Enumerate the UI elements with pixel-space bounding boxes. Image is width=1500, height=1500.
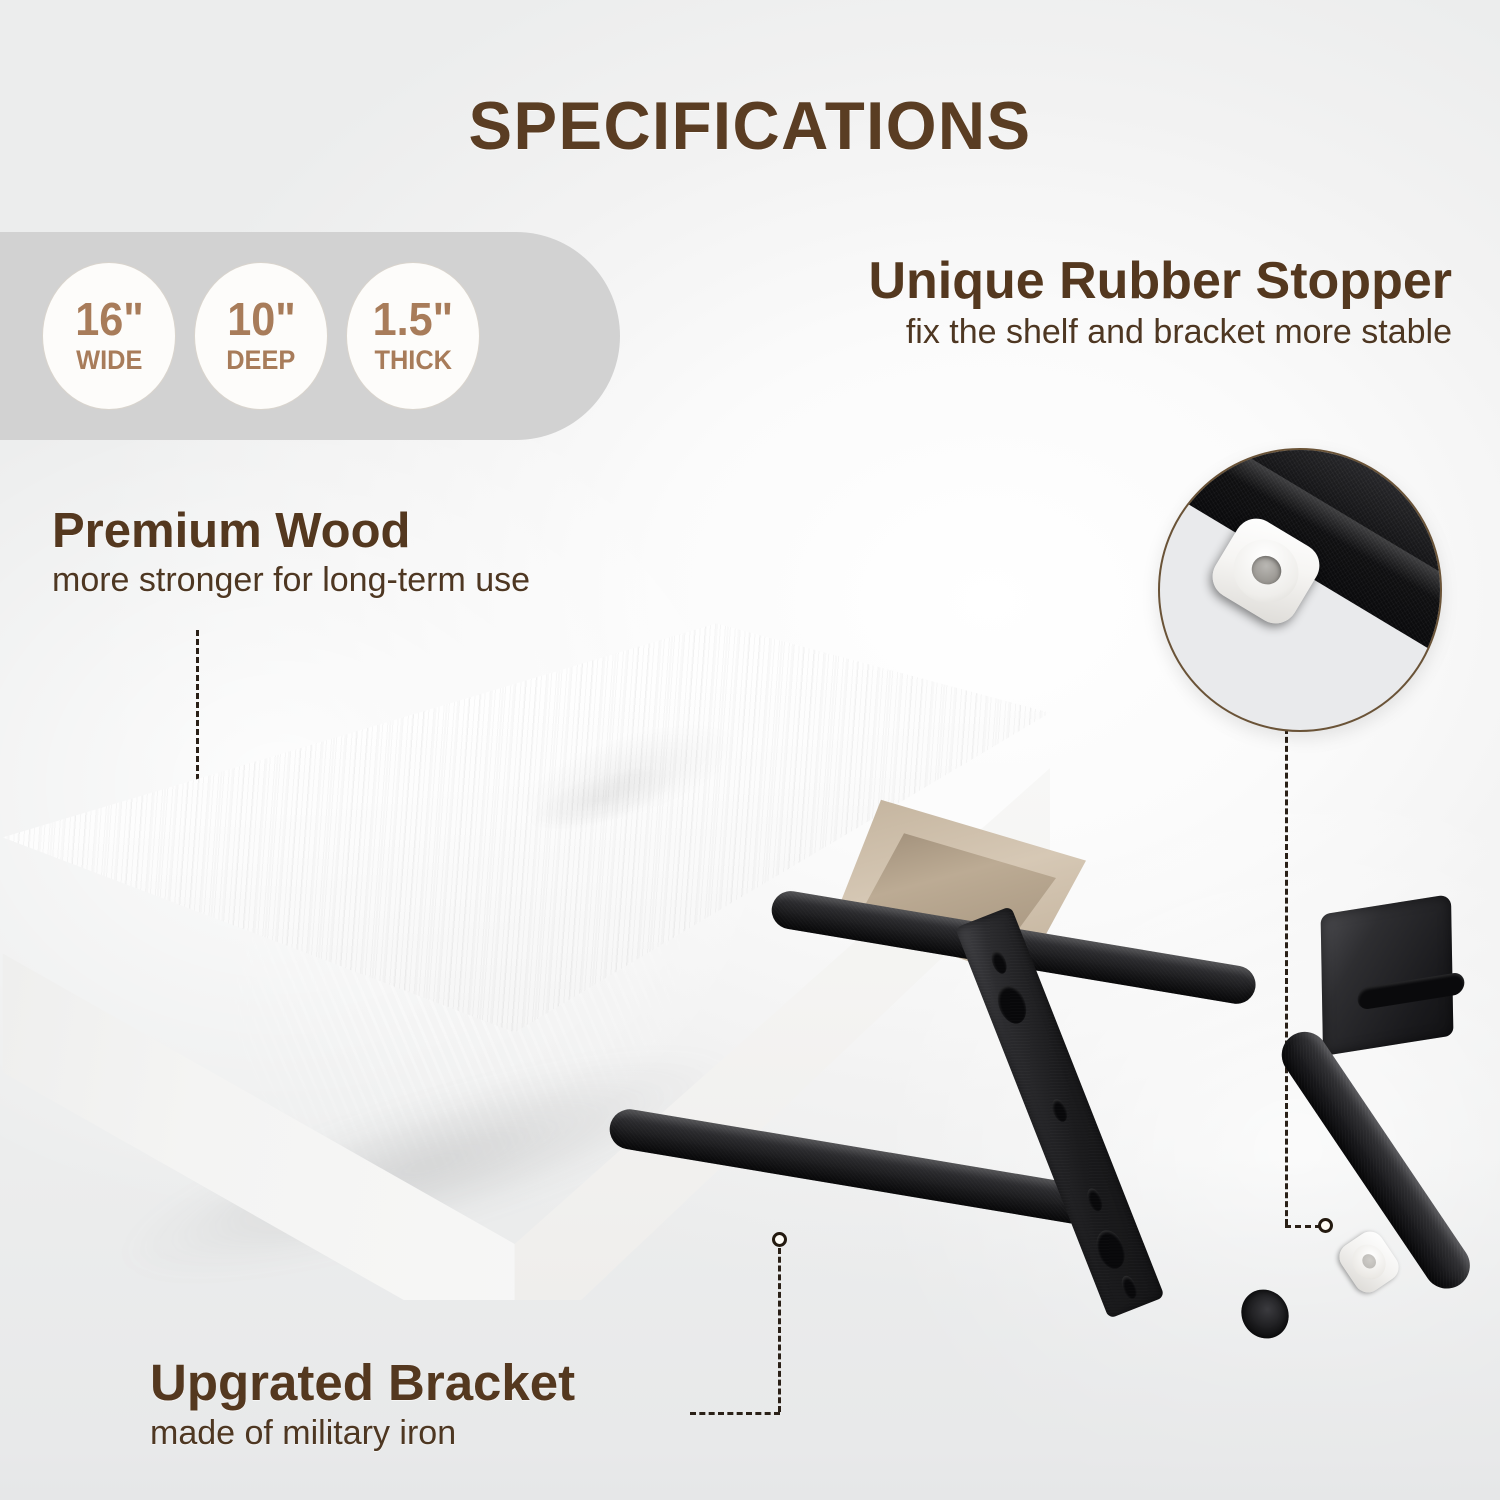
secondary-bracket-plate	[1321, 894, 1454, 1056]
callout-subtitle: fix the shelf and bracket more stable	[868, 313, 1452, 352]
callout-rubber-stopper: Unique Rubber Stopper fix the shelf and …	[868, 254, 1452, 352]
callout-title: Unique Rubber Stopper	[868, 254, 1452, 309]
spec-badge-label: THICK	[374, 346, 452, 376]
callout-title: Premium Wood	[52, 506, 530, 557]
spec-badge-value: 1.5"	[373, 296, 454, 342]
callout-title: Upgrated Bracket	[150, 1356, 575, 1410]
spec-badge-value: 10"	[227, 296, 296, 342]
callout-upgrated-bracket: Upgrated Bracket made of military iron	[150, 1356, 575, 1453]
spec-badge-label: DEEP	[226, 346, 295, 376]
specification-badge-group: 16" WIDE 10" DEEP 1.5" THICK	[42, 262, 480, 410]
shelf-bracket-main	[600, 880, 1300, 1320]
callout-premium-wood: Premium Wood more stronger for long-term…	[52, 506, 530, 601]
spec-badge-deep: 10" DEEP	[194, 262, 328, 410]
spec-badge-thick: 1.5" THICK	[346, 262, 480, 410]
callout-subtitle: made of military iron	[150, 1414, 575, 1453]
callout-subtitle: more stronger for long-term use	[52, 561, 530, 600]
page-title: SPECIFICATIONS	[30, 92, 1470, 160]
spec-badge-wide: 16" WIDE	[42, 262, 176, 410]
rubber-stopper-magnified-detail	[1158, 448, 1442, 732]
shelf-bracket-secondary	[1295, 905, 1500, 1375]
infographic-canvas: SPECIFICATIONS 16" WIDE 10" DEEP 1.5" TH…	[0, 0, 1500, 1500]
rubber-stopper-on-bracket	[1334, 1226, 1404, 1298]
spec-badge-value: 16"	[75, 296, 144, 342]
spec-badge-label: WIDE	[76, 346, 142, 376]
